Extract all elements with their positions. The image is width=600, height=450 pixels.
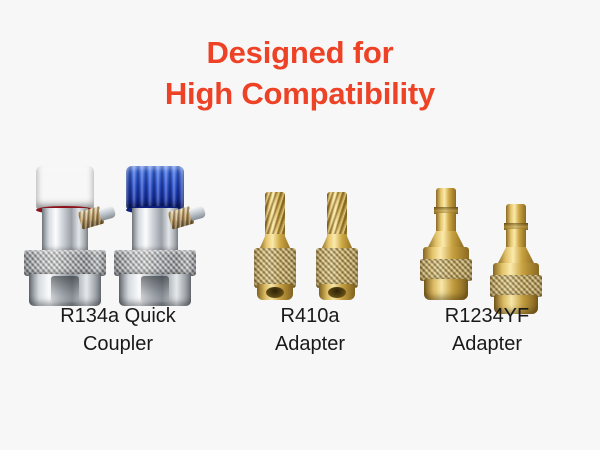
adapter-quick-connect-nipple [506,204,526,224]
adapter-quick-connect-nipple [436,188,456,208]
adapter-nipple-lower [436,213,456,233]
adapter-male-thread [265,192,285,238]
product-group-r134a-quick-coupler [18,150,218,310]
product-label-line-2: Adapter [246,331,374,359]
coupler-base-sleeve [29,274,101,306]
coupler-knurled-collar [24,250,106,276]
page-title-line-1: Designed for [0,32,600,73]
adapter-bore-opening [319,284,355,300]
coupler-base-sleeve [119,274,191,306]
blue-quick-coupler-image [112,166,198,306]
product-label-line-1: R134a Quick [18,303,218,331]
adapter-knurled-body [316,248,358,288]
product-labels: R134a Quick Coupler R410a Adapter R1234Y… [0,303,600,373]
adapter-male-thread [327,192,347,238]
product-image-r1234yf-adapter [416,150,558,310]
adapter-bore-opening [257,284,293,300]
product-label-r134a-quick-coupler: R134a Quick Coupler [18,303,218,358]
r1234yf-adapter-right-image [490,204,542,304]
coupler-knurled-collar [114,250,196,276]
adapter-knurled-band [420,259,472,281]
product-label-r1234yf-adapter: R1234YF Adapter [406,303,568,358]
product-image-r410a-adapter [246,150,374,310]
product-group-r1234yf-adapter [416,150,558,310]
page-title: Designed for High Compatibility [0,32,600,114]
adapter-knurled-body [254,248,296,288]
adapter-base [424,279,468,300]
page-title-line-2: High Compatibility [0,73,600,114]
red-quick-coupler-image [22,166,108,306]
coupler-knob-red [36,166,94,210]
product-label-line-2: Coupler [18,331,218,359]
product-label-line-2: Adapter [406,331,568,359]
r410a-adapter-left-image [252,192,298,300]
product-label-r410a-adapter: R410a Adapter [246,303,374,358]
product-row [0,150,600,310]
adapter-knurled-band [490,275,542,297]
side-port-tip [189,205,207,221]
product-group-r410a-adapter [246,150,374,310]
r1234yf-adapter-left-image [420,188,472,300]
product-image-r134a-quick-coupler [18,150,218,310]
adapter-nipple-lower [506,229,526,249]
r410a-adapter-right-image [314,192,360,300]
product-label-line-1: R410a [246,303,374,331]
product-label-line-1: R1234YF [406,303,568,331]
coupler-knob-blue [126,166,184,210]
